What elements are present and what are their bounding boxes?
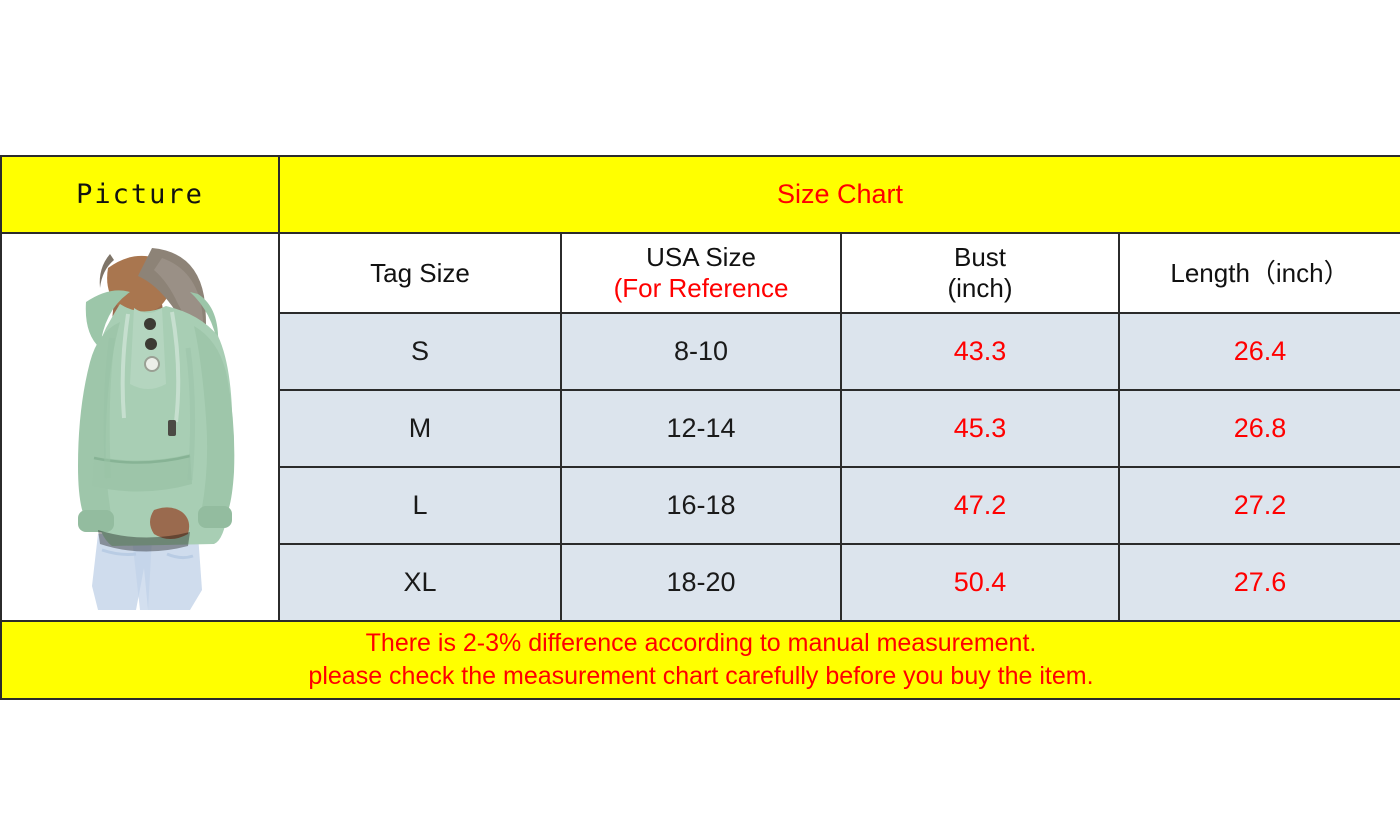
cell-usa-size: 18-20	[561, 544, 841, 621]
cell-tag-size: S	[279, 313, 561, 390]
footer-note-row: There is 2-3% difference according to ma…	[1, 621, 1400, 699]
button-2	[145, 338, 157, 350]
size-chart-title-cell: Size Chart	[279, 156, 1400, 233]
hoodie-model-illustration	[2, 238, 278, 616]
picture-header-cell: Picture	[1, 156, 279, 233]
measurement-note-line-2: please check the measurement chart caref…	[2, 660, 1400, 694]
cell-usa-size: 12-14	[561, 390, 841, 467]
column-header-tag-size-label: Tag Size	[280, 258, 560, 289]
cell-bust: 43.3	[841, 313, 1119, 390]
column-header-row: Tag Size USA Size (For Reference Bust (i…	[1, 233, 1400, 313]
product-image	[2, 238, 278, 616]
size-chart-title-label: Size Chart	[777, 179, 903, 209]
title-row: Picture Size Chart	[1, 156, 1400, 233]
button-1	[144, 318, 156, 330]
cell-length: 26.4	[1119, 313, 1400, 390]
column-header-bust: Bust (inch)	[841, 233, 1119, 313]
size-chart-page: Picture Size Chart	[0, 0, 1400, 840]
size-chart-table: Picture Size Chart	[0, 155, 1400, 700]
cell-bust: 47.2	[841, 467, 1119, 544]
column-header-length: Length（inch）	[1119, 233, 1400, 313]
cell-bust: 45.3	[841, 390, 1119, 467]
measurement-note-line-1: There is 2-3% difference according to ma…	[2, 627, 1400, 661]
column-header-bust-label: Bust	[842, 242, 1118, 273]
column-header-length-label: Length（inch）	[1120, 258, 1400, 289]
column-header-usa-size-label: USA Size	[562, 242, 840, 273]
cell-bust: 50.4	[841, 544, 1119, 621]
product-picture-cell	[1, 233, 279, 621]
measurement-note-cell: There is 2-3% difference according to ma…	[1, 621, 1400, 699]
button-3	[145, 357, 159, 371]
cuff-left	[78, 510, 114, 532]
picture-header-label: Picture	[76, 179, 204, 210]
column-header-usa-size-sub: (For Reference	[562, 273, 840, 304]
cell-usa-size: 16-18	[561, 467, 841, 544]
cell-length: 27.6	[1119, 544, 1400, 621]
drawstring-aglet	[168, 420, 176, 436]
cell-tag-size: M	[279, 390, 561, 467]
cell-length: 27.2	[1119, 467, 1400, 544]
cell-length: 26.8	[1119, 390, 1400, 467]
cuff-right	[198, 506, 232, 528]
cell-tag-size: XL	[279, 544, 561, 621]
column-header-bust-unit: (inch)	[842, 273, 1118, 304]
cell-usa-size: 8-10	[561, 313, 841, 390]
column-header-tag-size: Tag Size	[279, 233, 561, 313]
cell-tag-size: L	[279, 467, 561, 544]
column-header-usa-size: USA Size (For Reference	[561, 233, 841, 313]
